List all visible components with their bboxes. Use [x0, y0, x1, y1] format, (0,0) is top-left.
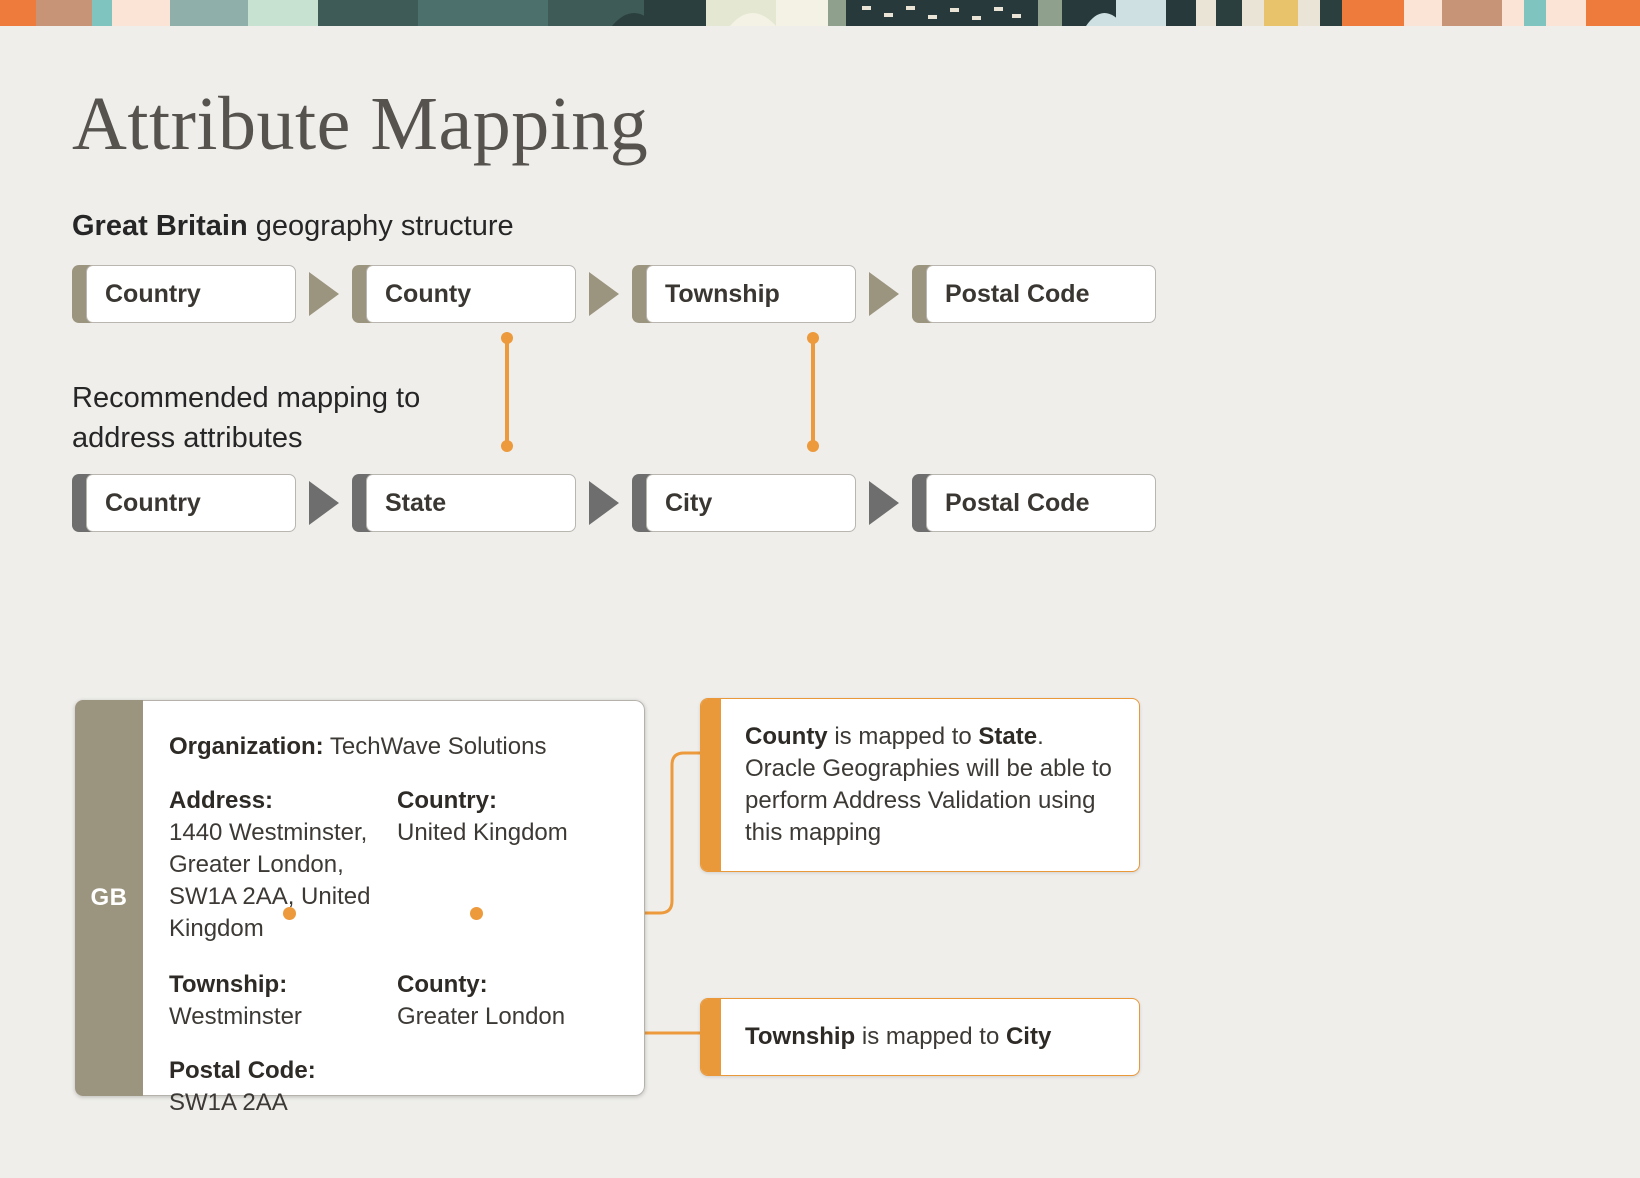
- chip-postal-code-geo[interactable]: Postal Code: [912, 265, 1156, 323]
- triangle-glyph: [309, 481, 339, 525]
- township-label: Township:: [169, 969, 397, 1001]
- callout-text: County is mapped to State. Oracle Geogra…: [721, 699, 1139, 871]
- connector-county-to-state: [505, 338, 509, 446]
- organization-value: TechWave Solutions: [324, 733, 547, 760]
- chip-body: Township: [646, 265, 856, 323]
- chip-body: County: [366, 265, 576, 323]
- organization-line: Organization: TechWave Solutions: [169, 731, 618, 763]
- callout-bold-source: County: [745, 723, 828, 750]
- arrow-right-icon-2: [576, 265, 632, 323]
- chip-township-geo[interactable]: Township: [632, 265, 856, 323]
- county-column: County: Greater London: [397, 969, 618, 1033]
- address-label: Address:: [169, 785, 397, 817]
- geography-structure-caption-rest: geography structure: [248, 210, 514, 242]
- triangle-glyph: [589, 481, 619, 525]
- chip-postal-code-addr[interactable]: Postal Code: [912, 474, 1156, 532]
- chip-label: City: [665, 489, 712, 518]
- chip-label: Postal Code: [945, 489, 1089, 518]
- chip-state-addr[interactable]: State: [352, 474, 576, 532]
- chip-body: Postal Code: [926, 474, 1156, 532]
- organization-label: Organization:: [169, 733, 324, 760]
- arrow-right-icon-5: [576, 474, 632, 532]
- slide-canvas: Attribute Mapping Great Britain geograph…: [0, 0, 1640, 1178]
- callout-bold-target: City: [1006, 1023, 1051, 1050]
- township-county-columns: Township: Westminster County: Greater Lo…: [169, 969, 618, 1033]
- triangle-glyph: [309, 272, 339, 316]
- chip-label: Country: [105, 280, 201, 309]
- arrow-right-icon-4: [296, 474, 352, 532]
- chip-country-addr[interactable]: Country: [72, 474, 296, 532]
- postal-code-label: Postal Code:: [169, 1055, 618, 1087]
- address-card-body: Organization: TechWave Solutions Address…: [143, 700, 645, 1096]
- chip-county-geo[interactable]: County: [352, 265, 576, 323]
- callout-text: Township is mapped to City: [721, 999, 1139, 1075]
- decorative-top-band: [0, 0, 1640, 26]
- county-value: Greater London: [397, 1001, 618, 1033]
- chip-label: Country: [105, 489, 201, 518]
- chip-body: Postal Code: [926, 265, 1156, 323]
- callout-mid: is mapped to: [828, 723, 979, 750]
- callout-bold-source: Township: [745, 1023, 855, 1050]
- township-column: Township: Westminster: [169, 969, 397, 1033]
- chip-label: Township: [665, 280, 780, 309]
- chip-body: Country: [86, 265, 296, 323]
- chip-country-geo[interactable]: Country: [72, 265, 296, 323]
- callout-accent-bar: [701, 999, 721, 1075]
- chip-body: City: [646, 474, 856, 532]
- address-card: GB Organization: TechWave Solutions Addr…: [75, 700, 645, 1096]
- address-column: Address: 1440 Westminster, Greater Londo…: [169, 785, 397, 945]
- callout-bold-target: State: [978, 723, 1037, 750]
- callout-county-mapping: County is mapped to State. Oracle Geogra…: [700, 698, 1140, 872]
- geography-structure-caption: Great Britain geography structure: [72, 208, 514, 244]
- postal-code-block: Postal Code: SW1A 2AA: [169, 1055, 618, 1119]
- country-flag-badge: GB: [75, 700, 143, 1096]
- chip-city-addr[interactable]: City: [632, 474, 856, 532]
- arrow-right-icon-6: [856, 474, 912, 532]
- triangle-glyph: [869, 272, 899, 316]
- geography-structure-caption-strong: Great Britain: [72, 210, 248, 242]
- township-value: Westminster: [169, 1001, 397, 1033]
- arrow-right-icon-1: [296, 265, 352, 323]
- postal-code-value: SW1A 2AA: [169, 1087, 618, 1119]
- callout-mid: is mapped to: [855, 1023, 1006, 1050]
- anchor-dot-township: [283, 907, 296, 920]
- chip-body: Country: [86, 474, 296, 532]
- triangle-glyph: [589, 272, 619, 316]
- page-title: Attribute Mapping: [72, 78, 648, 170]
- anchor-dot-county: [470, 907, 483, 920]
- connector-township-to-city: [811, 338, 815, 446]
- address-country-columns: Address: 1440 Westminster, Greater Londo…: [169, 785, 618, 945]
- country-value: United Kingdom: [397, 817, 618, 849]
- callout-township-mapping: Township is mapped to City: [700, 998, 1140, 1076]
- chip-body: State: [366, 474, 576, 532]
- recommended-mapping-caption: Recommended mapping to address attribute…: [72, 378, 472, 458]
- address-value: 1440 Westminster, Greater London, SW1A 2…: [169, 817, 397, 945]
- country-flag-label: GB: [91, 884, 128, 912]
- country-column: Country: United Kingdom: [397, 785, 618, 945]
- triangle-glyph: [869, 481, 899, 525]
- geography-structure-row: Country County Township Postal Code: [72, 265, 1156, 323]
- arrow-right-icon-3: [856, 265, 912, 323]
- top-band-artwork: [0, 0, 1640, 26]
- chip-label: State: [385, 489, 446, 518]
- chip-label: Postal Code: [945, 280, 1089, 309]
- callout-accent-bar: [701, 699, 721, 871]
- country-label: Country:: [397, 785, 618, 817]
- address-attributes-row: Country State City Postal Code: [72, 474, 1156, 532]
- county-label: County:: [397, 969, 618, 1001]
- chip-label: County: [385, 280, 471, 309]
